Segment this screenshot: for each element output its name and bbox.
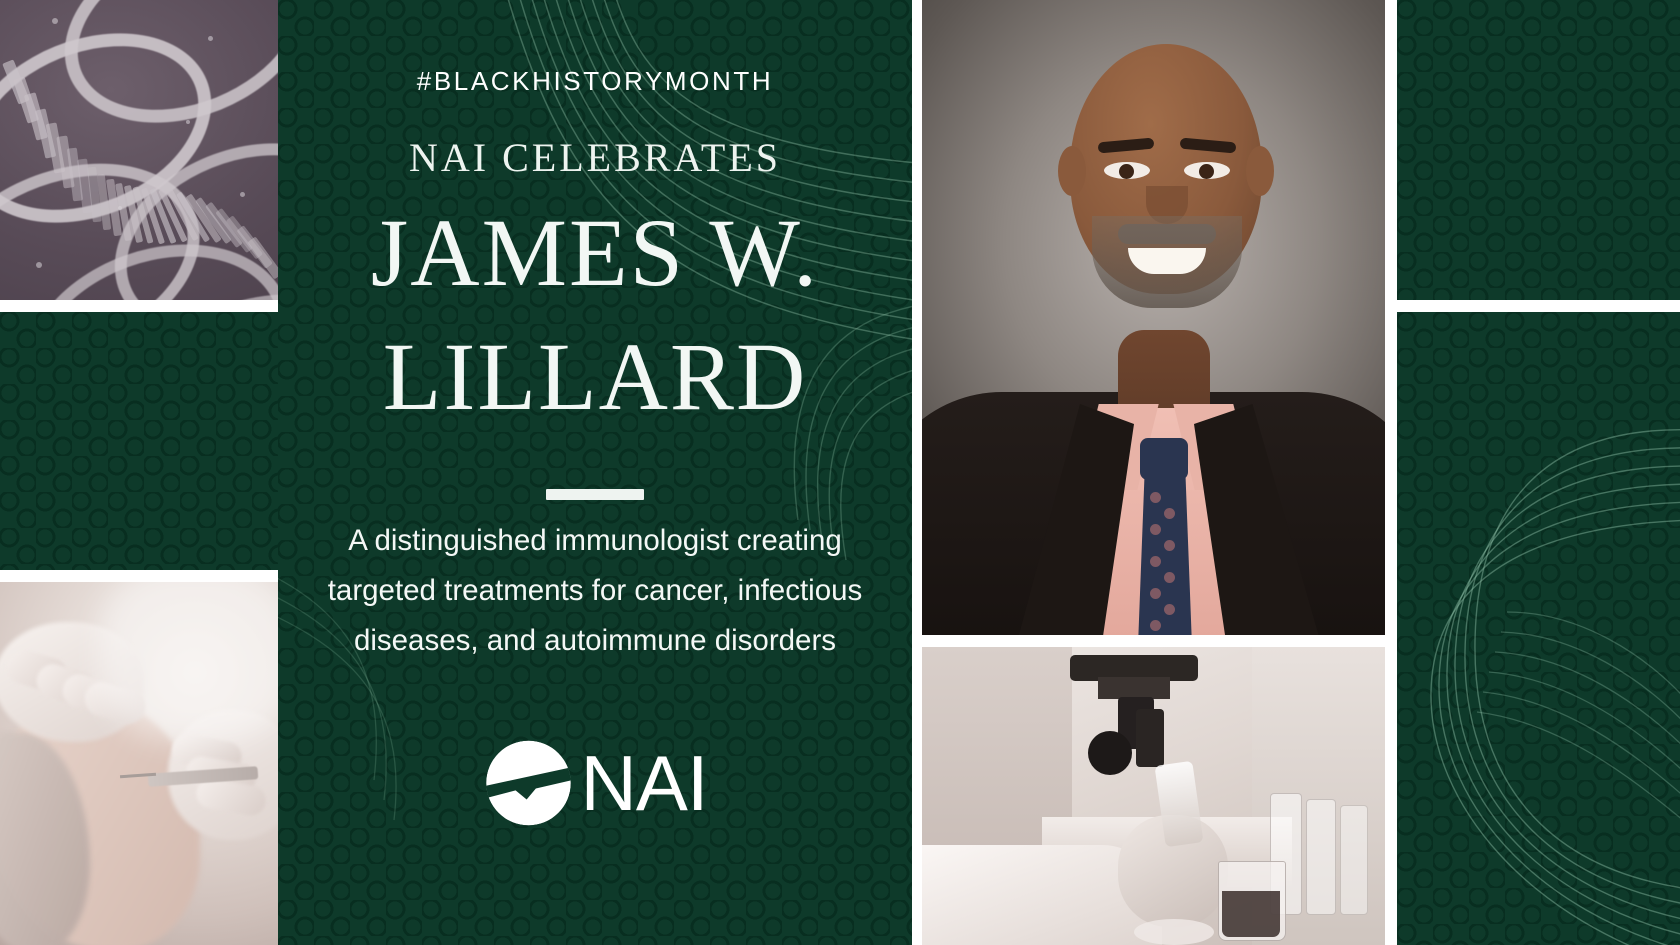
- flowing-line-swirl-icon: [1397, 312, 1680, 945]
- honoree-name-line-1: JAMES W.: [278, 206, 912, 300]
- divider-rule: [546, 489, 644, 500]
- laboratory-microscope-image: [922, 647, 1385, 945]
- green-pattern-panel-left: [0, 312, 278, 570]
- honoree-name-line-2: LILLARD: [278, 330, 912, 424]
- eyebrow-label: NAI CELEBRATES: [278, 134, 912, 181]
- description-text: A distinguished immunologist creating ta…: [278, 516, 912, 666]
- green-pattern-panel-right-top: [1397, 0, 1680, 300]
- main-content-panel: #BLACKHISTORYMONTH NAI CELEBRATES JAMES …: [278, 0, 912, 945]
- poster-canvas: #BLACKHISTORYMONTH NAI CELEBRATES JAMES …: [0, 0, 1680, 945]
- hashtag-label: #BLACKHISTORYMONTH: [278, 66, 912, 97]
- nai-wordmark: NAI: [580, 744, 707, 822]
- dna-double-helix-image: [0, 0, 278, 300]
- nai-circle-slash-icon: [482, 737, 574, 829]
- nai-logo: NAI: [482, 737, 707, 829]
- portrait-james-w-lillard: [922, 0, 1385, 635]
- vaccination-injection-image: [0, 582, 278, 945]
- green-pattern-panel-right-bottom: [1397, 312, 1680, 945]
